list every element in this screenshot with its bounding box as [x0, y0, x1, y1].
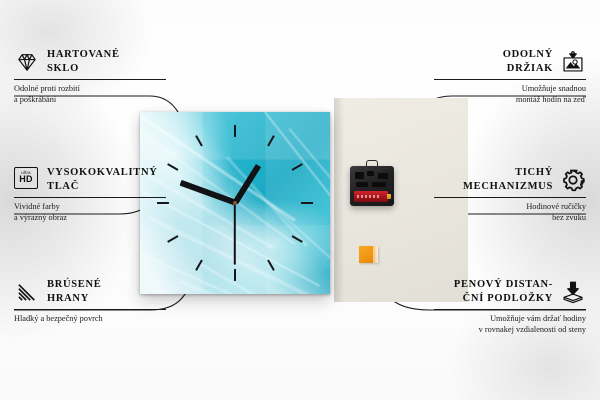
infographic-canvas: HARTOVANÉ SKLO Odolné proti rozbití a po…	[0, 0, 600, 400]
mechanism-hanger	[366, 160, 378, 167]
ultra-hd-badge-icon: ultra HD	[14, 167, 40, 193]
mechanism-vent	[355, 172, 364, 179]
feature-description: Vividné farby a výrazný obraz	[14, 202, 166, 223]
diamond-icon	[14, 49, 40, 75]
feature-header: ultra HD VYSOKOKVALITNÝ TLAČ	[14, 166, 166, 193]
clock-tick	[234, 125, 236, 137]
feature-description: Odolné proti rozbití a poškrábání	[14, 84, 166, 105]
clock-mechanism	[350, 166, 394, 206]
product-photo	[138, 98, 468, 302]
feature-hq-print: ultra HD VYSOKOKVALITNÝ TLAČ Vividné far…	[14, 166, 166, 223]
clock-tick	[301, 202, 313, 204]
feature-description: Hodinové ručičky bez zvuku	[434, 202, 586, 223]
feature-silent-mechanism: TICHÝ MECHANIZMUS Hodinové ručičky bez z…	[434, 166, 586, 223]
feature-title: BRÚSENÉ HRANY	[47, 278, 102, 305]
feature-header: HARTOVANÉ SKLO	[14, 48, 166, 75]
divider	[434, 197, 586, 198]
feature-title: VYSOKOKVALITNÝ TLAČ	[47, 166, 158, 193]
mechanism-vent	[378, 173, 388, 179]
battery	[354, 191, 388, 202]
feature-description: Umožňuje snadnou montáž hodin na zeď	[434, 84, 586, 105]
feature-header: ODOLNÝ DRŽIAK	[434, 48, 586, 75]
feature-durable-holder: ODOLNÝ DRŽIAK Umožňuje snadnou montáž ho…	[434, 48, 586, 105]
divider	[434, 79, 586, 80]
mechanism-vent	[356, 182, 368, 187]
gear-icon	[560, 167, 586, 193]
foam-spacer-pad	[359, 246, 378, 263]
divider	[14, 309, 166, 310]
feature-header: TICHÝ MECHANIZMUS	[434, 166, 586, 193]
feature-title: PENOVÝ DISTAN- ČNÍ PODLOŽKY	[454, 278, 553, 305]
hd-badge-bottom-text: HD	[19, 175, 32, 184]
beveled-edges-icon	[14, 279, 40, 305]
divider	[14, 197, 166, 198]
feature-header: BRÚSENÉ HRANY	[14, 278, 166, 305]
clock-hub	[233, 201, 237, 205]
feature-beveled-edges: BRÚSENÉ HRANY Hladký a bezpečný povrch	[14, 278, 166, 325]
feature-tempered-glass: HARTOVANÉ SKLO Odolné proti rozbití a po…	[14, 48, 166, 105]
feature-header: PENOVÝ DISTAN- ČNÍ PODLOŽKY	[434, 278, 586, 305]
feature-description: Umožňuje vám držať hodiny v rovnakej vzd…	[434, 314, 586, 335]
mechanism-vent	[367, 171, 374, 176]
second-hand	[234, 203, 236, 265]
foam-pad-arrow-icon	[560, 279, 586, 305]
feature-title: TICHÝ MECHANIZMUS	[463, 166, 553, 193]
clock-tick	[234, 269, 236, 281]
battery-label	[357, 195, 379, 199]
wall-clock	[140, 112, 330, 294]
feature-description: Hladký a bezpečný povrch	[14, 314, 166, 325]
feature-title: ODOLNÝ DRŽIAK	[503, 48, 553, 75]
divider	[434, 309, 586, 310]
mechanism-vent	[372, 182, 386, 187]
feature-title: HARTOVANÉ SKLO	[47, 48, 120, 75]
picture-frame-hanger-icon	[560, 49, 586, 75]
feature-foam-spacers: PENOVÝ DISTAN- ČNÍ PODLOŽKY Umožňuje vám…	[434, 278, 586, 335]
divider	[14, 79, 166, 80]
